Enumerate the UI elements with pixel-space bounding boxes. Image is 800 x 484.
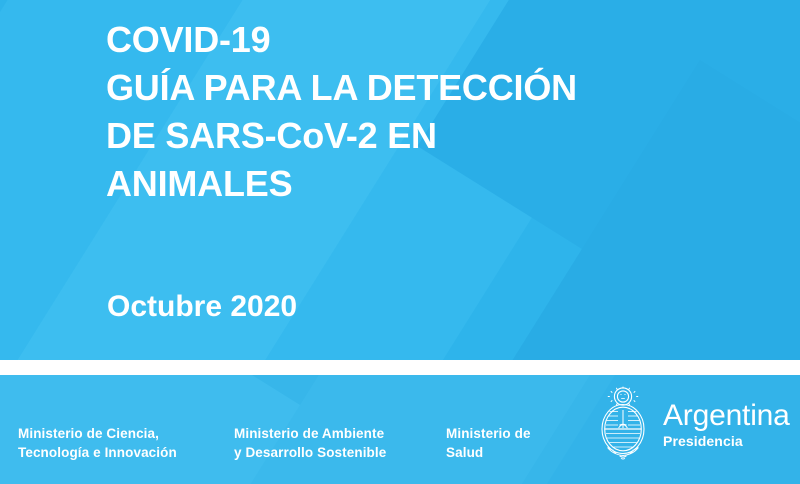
brand-text: Argentina Presidencia — [663, 396, 790, 450]
title-line-1: COVID-19 — [106, 16, 766, 64]
argentina-coat-of-arms-icon — [592, 386, 654, 460]
ministry-ambiente-line1: Ministerio de Ambiente — [234, 424, 386, 443]
ministry-ciencia-line1: Ministerio de Ciencia, — [18, 424, 177, 443]
ministry-ciencia: Ministerio de Ciencia, Tecnología e Inno… — [18, 424, 177, 462]
ministry-salud-line1: Ministerio de — [446, 424, 531, 443]
title-slide: COVID-19 GUÍA PARA LA DETECCIÓN DE SARS-… — [0, 0, 800, 484]
section-divider — [0, 360, 800, 375]
ministry-salud-line2: Salud — [446, 443, 531, 462]
title-line-4: ANIMALES — [106, 160, 766, 208]
ministry-salud: Ministerio de Salud — [446, 424, 531, 462]
title-line-3: DE SARS-CoV-2 EN — [106, 112, 766, 160]
brand-name: Argentina — [663, 400, 790, 432]
ministry-ciencia-line2: Tecnología e Innovación — [18, 443, 177, 462]
title-line-2: GUÍA PARA LA DETECCIÓN — [106, 64, 766, 112]
ministry-ambiente: Ministerio de Ambiente y Desarrollo Sost… — [234, 424, 386, 462]
slide-date: Octubre 2020 — [107, 289, 297, 325]
argentina-presidencia-logo: Argentina Presidencia — [592, 386, 790, 460]
slide-title: COVID-19 GUÍA PARA LA DETECCIÓN DE SARS-… — [106, 16, 766, 208]
brand-subtitle: Presidencia — [663, 432, 790, 450]
ministry-ambiente-line2: y Desarrollo Sostenible — [234, 443, 386, 462]
